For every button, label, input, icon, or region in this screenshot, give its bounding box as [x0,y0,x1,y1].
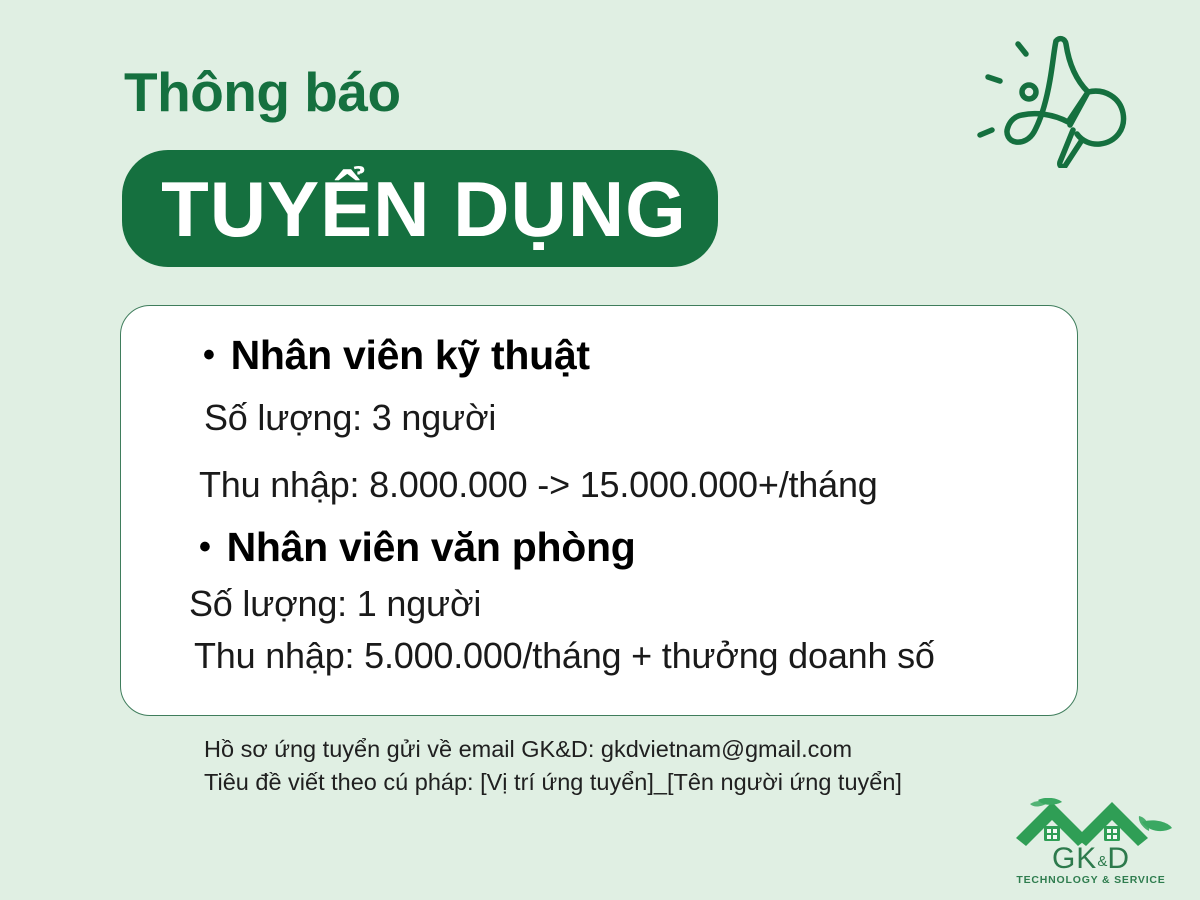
recruitment-poster: Thông báo TUYỂN DỤNG [0,0,1200,900]
logo-wordmark-left: GK [1052,842,1097,875]
recruitment-title: TUYỂN DỤNG [144,170,704,248]
company-logo: GK&D TECHNOLOGY & SERVICE [1000,798,1182,890]
job-title-1-label: Nhân viên kỹ thuật [231,332,590,378]
logo-wordmark-amp: & [1097,853,1107,870]
job-title-2-label: Nhân viên văn phòng [227,524,636,570]
job-title-1: •Nhân viên kỹ thuật [203,332,590,379]
application-subject-line: Tiêu đề viết theo cú pháp: [Vị trí ứng t… [204,766,902,799]
bullet-icon: • [203,336,215,375]
job-title-2: •Nhân viên văn phòng [199,524,636,571]
bullet-icon: • [199,528,211,567]
job-listing-card: •Nhân viên kỹ thuật Số lượng: 3 người Th… [120,305,1078,716]
application-email-line: Hồ sơ ứng tuyển gửi về email GK&D: gkdvi… [204,733,902,766]
job-2-quantity: Số lượng: 1 người [189,583,481,625]
title-badge: TUYỂN DỤNG [122,150,718,267]
application-instructions: Hồ sơ ứng tuyển gửi về email GK&D: gkdvi… [204,733,902,800]
logo-wordmark-right: D [1107,842,1130,875]
notice-label: Thông báo [124,62,401,123]
logo-wordmark: GK&D [1000,842,1182,876]
job-1-salary: Thu nhập: 8.000.000 -> 15.000.000+/tháng [199,464,878,506]
megaphone-icon [960,18,1140,168]
job-1-quantity: Số lượng: 3 người [204,397,496,439]
job-2-salary: Thu nhập: 5.000.000/tháng + thưởng doanh… [194,635,935,677]
logo-tagline: TECHNOLOGY & SERVICE [1000,874,1182,886]
